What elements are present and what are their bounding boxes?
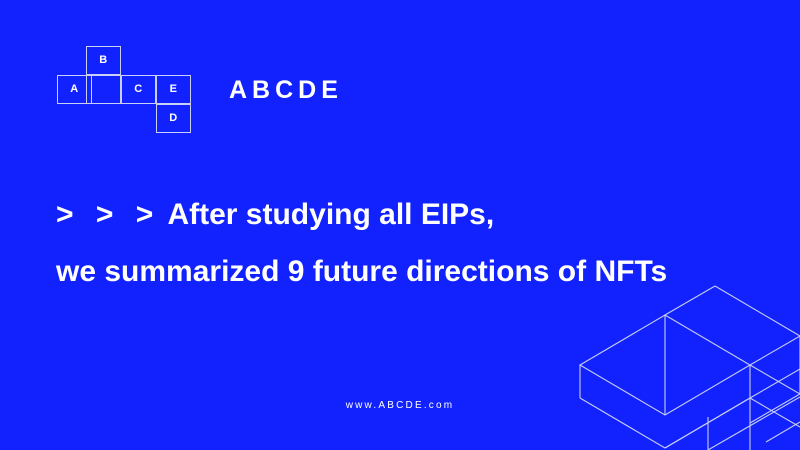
headline-line-1: > > > After studying all EIPs, xyxy=(56,186,776,243)
logo-cell-c: C xyxy=(121,75,156,104)
brand-lockup: B A C E D ABCDE xyxy=(57,46,343,134)
logo-cell-b: B xyxy=(86,46,121,75)
headline-block: > > > After studying all EIPs, we summar… xyxy=(56,186,776,300)
logo-cell-blank xyxy=(86,75,121,104)
headline-line-1-text: After studying all EIPs, xyxy=(167,198,494,231)
slide-canvas: B A C E D ABCDE > > > After studying all… xyxy=(0,0,800,450)
logo-grid: B A C E D xyxy=(57,46,201,134)
logo-cell-d: D xyxy=(156,104,191,133)
chevron-prefix: > > > xyxy=(56,198,160,231)
logo-cell-e: E xyxy=(156,75,191,104)
headline-line-2: we summarized 9 future directions of NFT… xyxy=(56,243,776,300)
brand-wordmark: ABCDE xyxy=(229,78,343,103)
footer-url: www.ABCDE.com xyxy=(0,401,800,411)
